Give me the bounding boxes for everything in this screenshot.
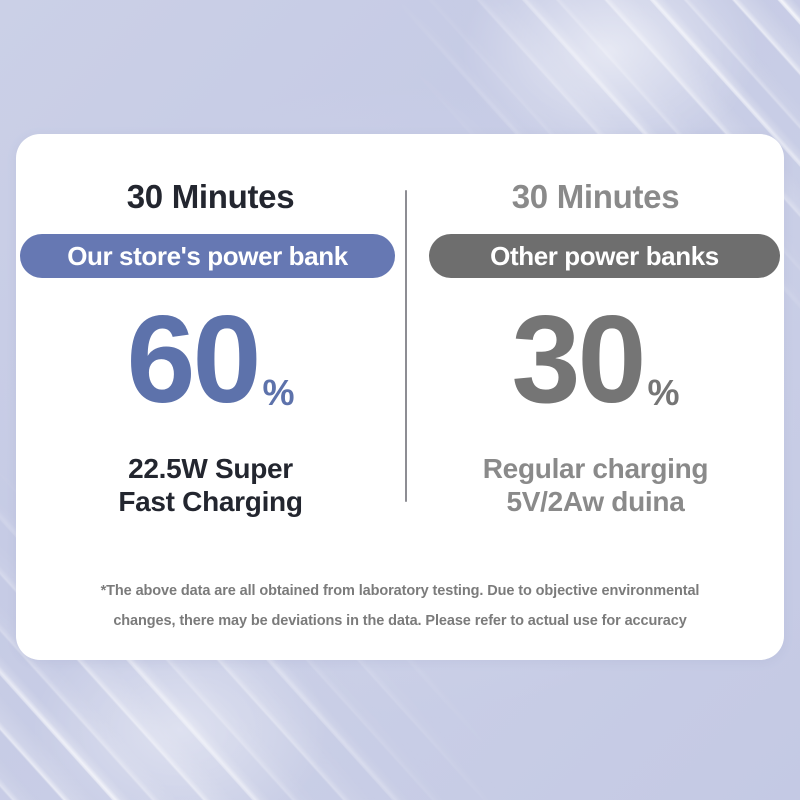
caption-other-products-line1: Regular charging <box>483 453 708 484</box>
duration-label-other-products: 30 Minutes <box>407 180 784 213</box>
percent-symbol-other-products: % <box>643 377 679 415</box>
disclaimer-footnote: *The above data are all obtained from la… <box>56 576 744 637</box>
caption-our-product: 22.5W Super Fast Charging <box>16 452 405 518</box>
comparison-card: 30 Minutes Our store's power bank 60 % 2… <box>16 134 784 660</box>
caption-other-products-line2: 5V/2Aw duina <box>407 485 784 518</box>
disclaimer-footnote-line1: *The above data are all obtained from la… <box>56 576 744 606</box>
infographic-canvas: 30 Minutes Our store's power bank 60 % 2… <box>0 0 800 800</box>
percent-symbol-our-product: % <box>258 377 294 415</box>
badge-our-product: Our store's power bank <box>20 234 395 278</box>
caption-our-product-line2: Fast Charging <box>16 485 405 518</box>
percent-value-our-product: 60 <box>127 306 259 415</box>
percent-figure-other-products: 30 % <box>407 306 784 415</box>
duration-label-our-product: 30 Minutes <box>16 180 405 213</box>
caption-our-product-line1: 22.5W Super <box>128 453 293 484</box>
disclaimer-footnote-line2: changes, there may be deviations in the … <box>56 606 744 636</box>
percent-value-other-products: 30 <box>512 306 644 415</box>
badge-other-products-label: Other power banks <box>490 241 719 272</box>
percent-figure-our-product: 60 % <box>16 306 405 415</box>
badge-our-product-label: Our store's power bank <box>67 241 348 272</box>
caption-other-products: Regular charging 5V/2Aw duina <box>407 452 784 518</box>
badge-other-products: Other power banks <box>429 234 780 278</box>
